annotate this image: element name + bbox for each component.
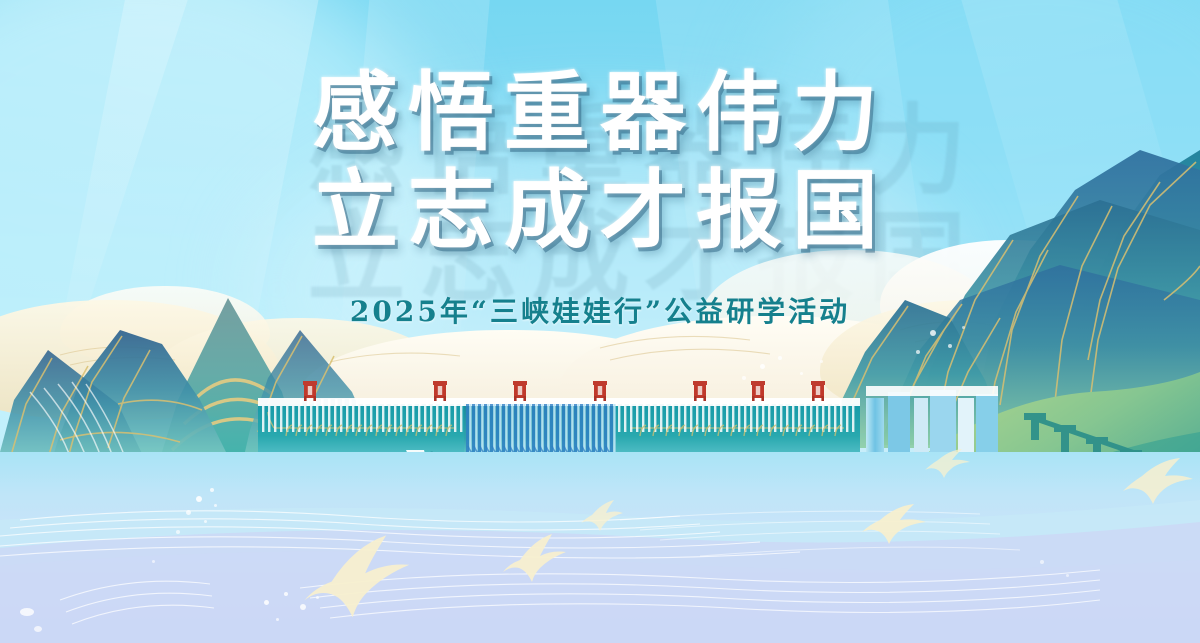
river-water <box>0 452 1200 643</box>
subtitle-text: 2025年“三峡娃娃行”公益研学活动 <box>0 290 1200 330</box>
poster-banner: 感悟重器伟力 立志成才报国 <box>0 0 1200 643</box>
title-line-2: 立志成才报国 <box>0 164 1200 258</box>
headline-block: 感悟重器伟力 立志成才报国 <box>0 66 1200 258</box>
title-line-1: 感悟重器伟力 <box>0 66 1200 160</box>
